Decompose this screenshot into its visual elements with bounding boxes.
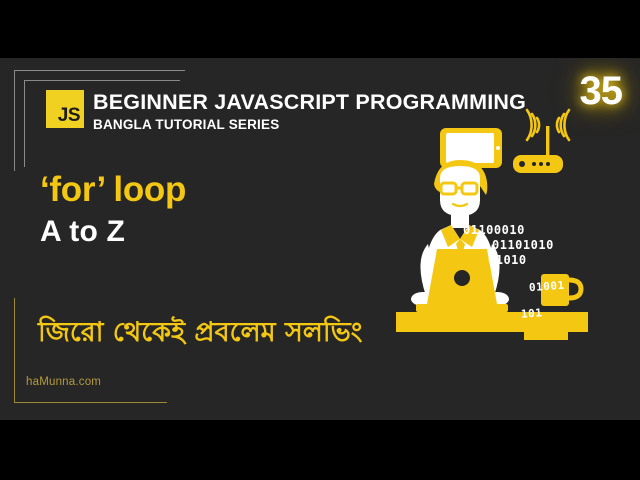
- site-watermark: haMunna.com: [26, 376, 101, 388]
- wifi-router-icon: [513, 110, 569, 173]
- headline-line-1: ‘for’ loop: [40, 170, 186, 210]
- binary-text-3: 01010: [488, 253, 527, 267]
- binary-text-1: 01100010: [463, 223, 525, 237]
- bangla-tagline: জিরো থেকেই প্রবলেম সলভিং: [38, 316, 362, 350]
- headline-line-2: A to Z: [40, 214, 186, 250]
- video-thumbnail: JS BEGINNER JAVASCRIPT PROGRAMMING BANGL…: [0, 0, 640, 480]
- programmer-at-desk-illustration: [396, 66, 640, 366]
- thumbnail-content-area: JS BEGINNER JAVASCRIPT PROGRAMMING BANGL…: [0, 58, 640, 420]
- headline-block: ‘for’ loop A to Z: [40, 170, 186, 250]
- binary-text-4: 01001: [529, 279, 565, 294]
- desk: [396, 312, 588, 340]
- binary-text-2: 01101010: [492, 238, 554, 252]
- javascript-logo-icon: JS: [46, 90, 84, 128]
- javascript-logo-label: JS: [58, 106, 84, 128]
- binary-text-5: 101: [521, 306, 543, 320]
